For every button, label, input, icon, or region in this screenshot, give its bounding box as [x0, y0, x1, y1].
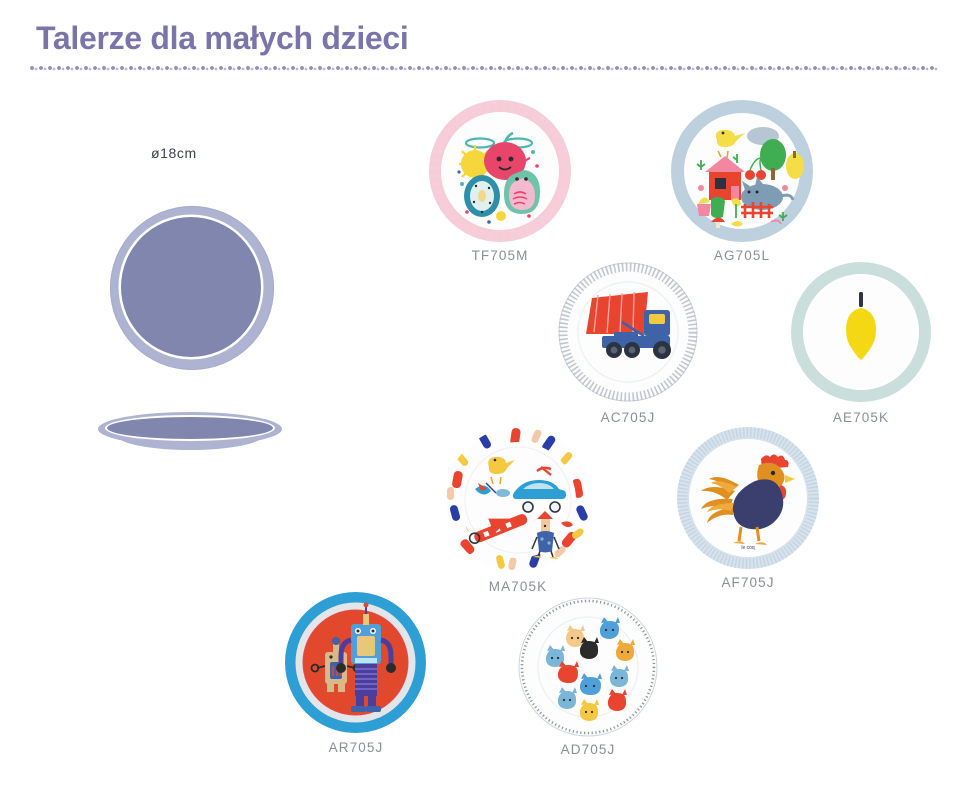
- plate-art-robots: [285, 592, 426, 733]
- product-tf705m[interactable]: TF705M: [425, 100, 575, 242]
- plate-art-toys: [445, 427, 591, 573]
- product-code-ae705k: AE705K: [786, 410, 936, 425]
- plate-art-truck: [558, 262, 698, 402]
- product-ma705k[interactable]: MA705K: [443, 427, 593, 573]
- plate-art-animals: [518, 597, 658, 737]
- plate-silhouette-top-view: [110, 206, 274, 370]
- plate-image-ae705k: [791, 262, 931, 402]
- plate-image-ac705j: [558, 262, 698, 402]
- dimension-label: ø18cm: [151, 145, 197, 161]
- product-code-ac705j: AC705J: [553, 410, 703, 425]
- plate-image-tf705m: [429, 100, 571, 242]
- plate-image-ad705j: [518, 597, 658, 737]
- product-code-ar705j: AR705J: [281, 740, 431, 755]
- product-code-ma705k: MA705K: [443, 579, 593, 594]
- svg-text:le coq: le coq: [741, 545, 755, 551]
- plate-art-garden: [671, 100, 813, 242]
- silhouette-side-well: [107, 417, 273, 439]
- plate-image-ar705j: [285, 592, 426, 733]
- product-ac705j[interactable]: AC705J: [553, 262, 703, 402]
- plate-image-ag705l: [671, 100, 813, 242]
- plate-art-fruits: [429, 100, 571, 242]
- product-af705j[interactable]: le coq AF705J: [673, 427, 823, 569]
- title-divider: [30, 64, 938, 73]
- product-code-ad705j: AD705J: [513, 742, 663, 757]
- plate-silhouette-side-view: [98, 412, 282, 452]
- product-ar705j[interactable]: AR705J: [281, 592, 431, 733]
- page-title: Talerze dla małych dzieci: [36, 20, 409, 57]
- product-code-tf705m: TF705M: [425, 248, 575, 263]
- plate-art-pear: [791, 262, 931, 402]
- product-code-af705j: AF705J: [673, 575, 823, 590]
- plate-image-af705j: le coq: [677, 427, 819, 569]
- product-ae705k[interactable]: AE705K: [786, 262, 936, 402]
- product-ad705j[interactable]: AD705J: [513, 597, 663, 737]
- plate-image-ma705k: [445, 427, 591, 573]
- product-ag705l[interactable]: AG705L: [667, 100, 817, 242]
- plate-art-rooster: le coq: [677, 427, 819, 569]
- product-code-ag705l: AG705L: [667, 248, 817, 263]
